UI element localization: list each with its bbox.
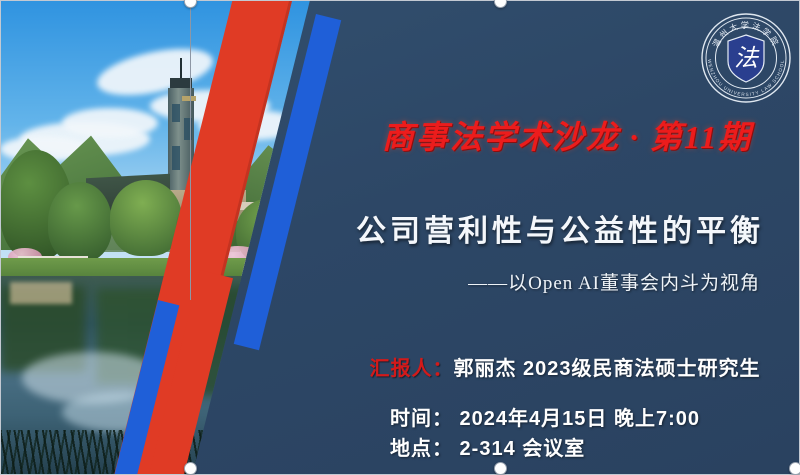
page-title: 公司营利性与公益性的平衡 bbox=[330, 206, 790, 250]
subtitle: ——以Open AI董事会内斗为视角 bbox=[330, 268, 790, 295]
speaker-label: 汇报人： bbox=[369, 358, 453, 380]
speaker-line: 汇报人：郭丽杰 2023级民商法硕士研究生 bbox=[340, 352, 790, 381]
resize-handle-bottom-right[interactable] bbox=[789, 462, 800, 475]
resize-handle-bottom-left[interactable] bbox=[184, 462, 197, 475]
water-reflection bbox=[10, 282, 72, 304]
tower-window bbox=[172, 146, 180, 170]
tree bbox=[48, 182, 112, 262]
speaker-name: 郭丽杰 2023级民商法硕士研究生 bbox=[453, 358, 760, 380]
resize-handle-bottom-center[interactable] bbox=[494, 462, 507, 475]
tower-window bbox=[172, 104, 180, 122]
event-location: 地点： 2-314 会议室 bbox=[390, 432, 790, 461]
series-title: 商事法学术沙龙 · 第11期 bbox=[352, 112, 782, 158]
slide-canvas[interactable]: 温州大学法学院 WENZHOU UNIVERSITY LAW SCHOOL 法 … bbox=[0, 0, 800, 475]
emblem-shield-char: 法 bbox=[734, 45, 760, 72]
cloud bbox=[62, 108, 158, 138]
tower-mast bbox=[180, 58, 182, 80]
rotate-handle-stem bbox=[190, 0, 191, 300]
tower-band bbox=[182, 96, 196, 101]
wenzhou-university-law-school-emblem[interactable]: 温州大学法学院 WENZHOU UNIVERSITY LAW SCHOOL 法 bbox=[700, 12, 792, 104]
event-time: 时间： 2024年4月15日 晚上7:00 bbox=[390, 402, 790, 431]
